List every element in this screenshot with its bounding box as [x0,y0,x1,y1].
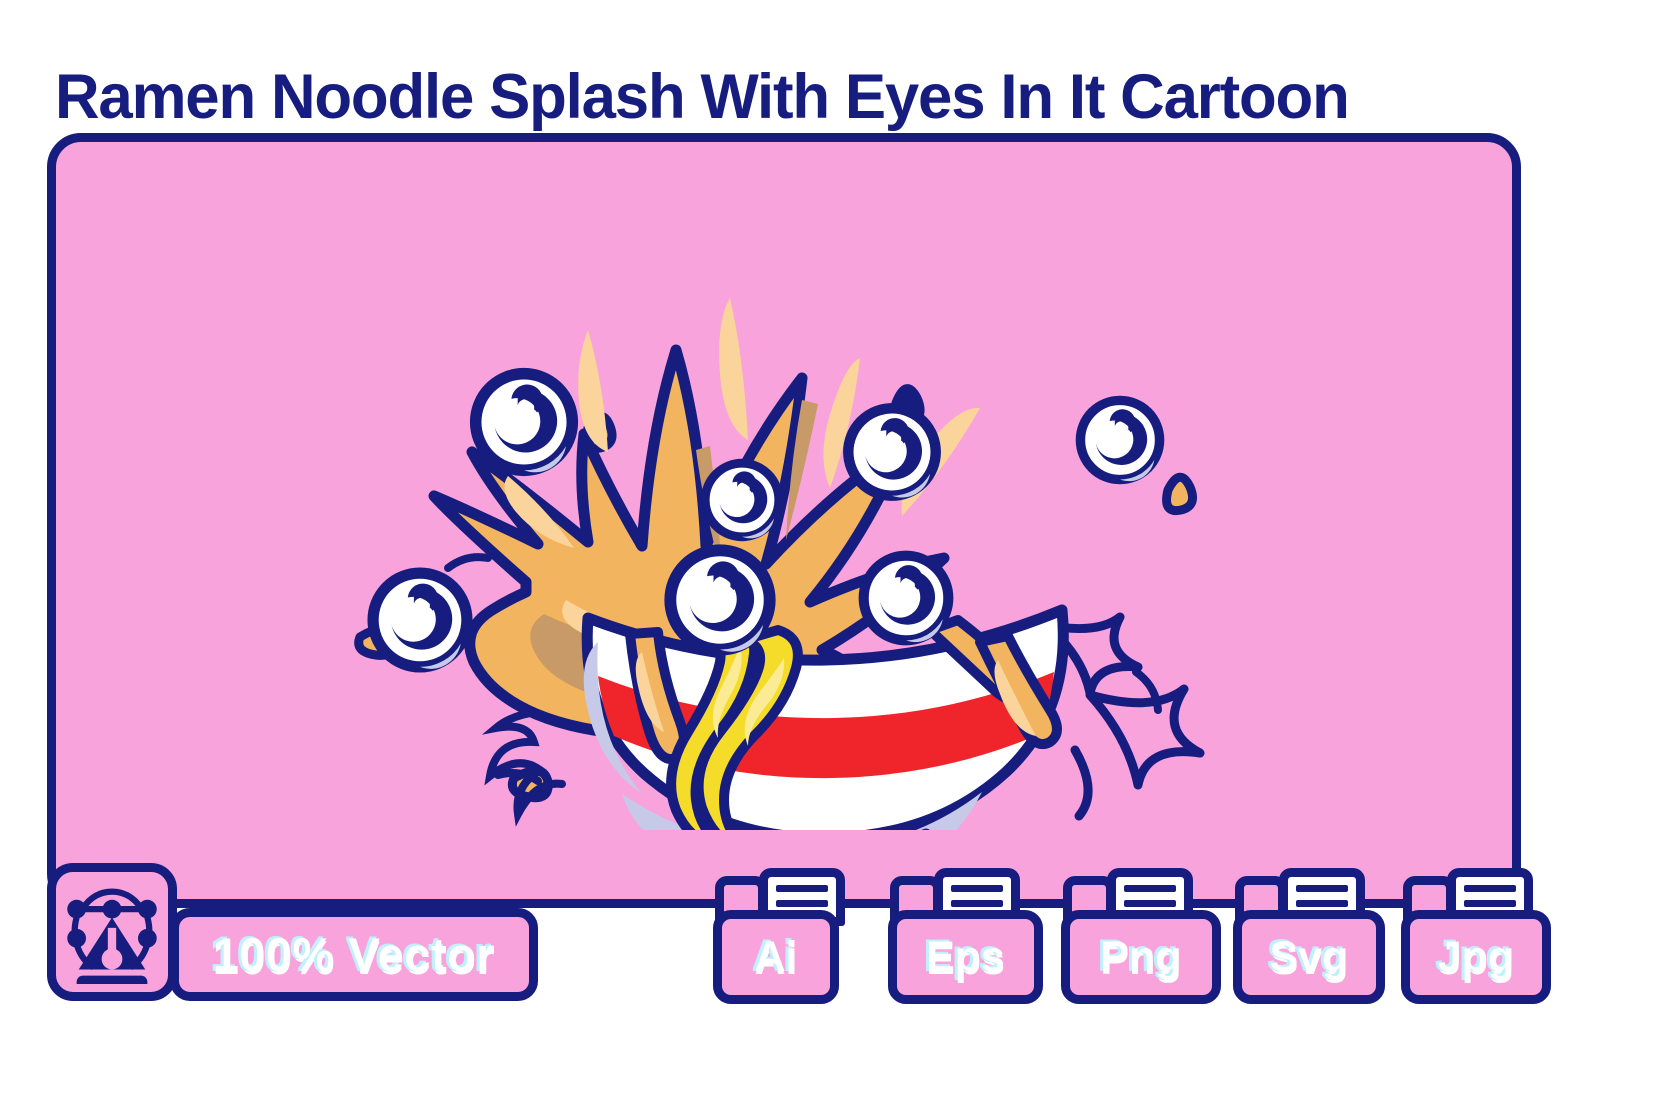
format-badge-body: Jpg [1401,910,1551,1004]
format-label: Eps [926,936,1005,979]
pen-tool-vector-icon [60,880,164,984]
format-badge-body: Svg [1233,910,1385,1004]
format-badges: AiEpsPngSvgJpg [713,866,1553,1004]
preview-card: Ramen Noodle Splash With Eyes In It Cart… [0,0,1668,1112]
format-badge-body: Png [1061,910,1221,1004]
vector-label-pill: 100% Vector [170,908,538,1001]
vector-icon-badge [47,863,177,1001]
format-label: Ai [755,936,798,979]
format-label: Png [1100,936,1181,979]
vector-label: 100% Vector [213,927,495,982]
ramen-splash-illustration [330,190,1250,830]
format-label: Svg [1270,936,1349,979]
format-badge-body: Eps [888,910,1043,1004]
page-title: Ramen Noodle Splash With Eyes In It Cart… [55,66,1584,129]
format-badge-body: Ai [713,910,839,1004]
format-label: Jpg [1438,936,1514,979]
